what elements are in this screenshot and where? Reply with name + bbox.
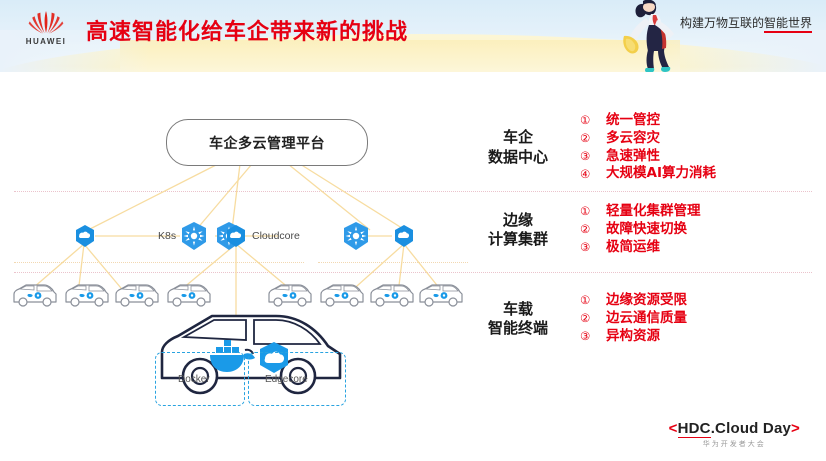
cloudcore-node-icon-2[interactable] <box>225 224 247 248</box>
cloudcore-node-icon-1[interactable] <box>74 224 96 248</box>
group-title-line1: 边缘 <box>470 211 566 230</box>
vehicle-icon[interactable] <box>10 280 60 310</box>
group-title-terminal: 车载 智能终端 <box>470 300 566 338</box>
huawei-logo: HUAWEI <box>16 8 76 48</box>
slide-canvas: HUAWEI 高速智能化给车企带来新的挑战 构建万物互联的智能世界 <box>0 0 826 461</box>
footer-cloud-day: .Cloud Day <box>711 420 791 437</box>
item-text: 边缘资源受限 <box>606 292 687 310</box>
challenge-list-datacenter: ① 统一管控 ② 多云容灾 ③ 急速弹性 ④ 大规模AI算力消耗 <box>580 112 716 183</box>
item-number: ① <box>580 204 606 219</box>
item-number: ① <box>580 293 606 308</box>
list-item: ③ 急速弹性 <box>580 148 716 166</box>
group-title-line1: 车企 <box>470 128 566 147</box>
item-text: 极简运维 <box>606 239 660 257</box>
tagline-prefix: 构建万物互联的 <box>680 16 764 30</box>
brand-tagline: 构建万物互联的智能世界 <box>680 14 812 31</box>
list-item: ④ 大规模AI算力消耗 <box>580 165 716 183</box>
edgecore-label: Edgecore <box>265 374 308 385</box>
item-number: ② <box>580 131 606 146</box>
event-logo: <HDC.Cloud Day> <box>669 420 800 437</box>
item-number: ③ <box>580 240 606 255</box>
group-title-line2: 计算集群 <box>470 230 566 249</box>
cloud-management-platform-box[interactable]: 车企多云管理平台 <box>166 119 368 166</box>
kubernetes-node-icon-3[interactable] <box>340 220 372 252</box>
item-number: ① <box>580 113 606 128</box>
challenge-group-terminal: 车载 智能终端 ① 边缘资源受限 ② 边云通信质量 ③ 异构资源 <box>470 292 687 345</box>
vehicle-icon[interactable] <box>62 280 112 310</box>
item-number: ② <box>580 222 606 237</box>
kubernetes-node-icon-1[interactable] <box>178 220 210 252</box>
footer-hdc: HDC <box>678 420 711 438</box>
vehicle-icon[interactable] <box>367 280 417 310</box>
challenge-group-datacenter: 车企 数据中心 ① 统一管控 ② 多云容灾 ③ 急速弹性 ④ 大规模AI算力消耗 <box>470 112 716 183</box>
list-item: ③ 极简运维 <box>580 239 701 257</box>
page-title: 高速智能化给车企带来新的挑战 <box>86 14 408 46</box>
item-text: 边云通信质量 <box>606 310 687 328</box>
group-title-edge: 边缘 计算集群 <box>470 211 566 249</box>
list-item: ② 多云容灾 <box>580 130 716 148</box>
group-title-datacenter: 车企 数据中心 <box>470 128 566 166</box>
slide-header: HUAWEI 高速智能化给车企带来新的挑战 构建万物互联的智能世界 <box>0 0 826 72</box>
challenge-list-edge: ① 轻量化集群管理 ② 故障快速切换 ③ 极简运维 <box>580 203 701 256</box>
group-title-line1: 车载 <box>470 300 566 319</box>
item-text: 异构资源 <box>606 328 660 346</box>
group-title-line2: 智能终端 <box>470 319 566 338</box>
hero-illustration <box>620 0 706 72</box>
challenge-list-terminal: ① 边缘资源受限 ② 边云通信质量 ③ 异构资源 <box>580 292 687 345</box>
item-text: 故障快速切换 <box>606 221 687 239</box>
item-number: ④ <box>580 167 606 182</box>
item-text: 多云容灾 <box>606 130 660 148</box>
footer-open-bracket: < <box>669 420 678 437</box>
docker-label: Docker <box>178 374 210 385</box>
challenge-group-edge: 边缘 计算集群 ① 轻量化集群管理 ② 故障快速切换 ③ 极简运维 <box>470 203 701 256</box>
item-text: 大规模AI算力消耗 <box>606 165 716 183</box>
list-item: ① 统一管控 <box>580 112 716 130</box>
huawei-flower-icon <box>16 8 76 36</box>
item-text: 轻量化集群管理 <box>606 203 701 221</box>
event-subtitle: 华为开发者大会 <box>669 439 800 449</box>
list-item: ② 边云通信质量 <box>580 310 687 328</box>
vehicle-icon[interactable] <box>416 280 466 310</box>
list-item: ① 轻量化集群管理 <box>580 203 701 221</box>
item-text: 急速弹性 <box>606 148 660 166</box>
item-number: ③ <box>580 149 606 164</box>
architecture-diagram: 车企多云管理平台 K8s <box>0 72 470 412</box>
item-text: 统一管控 <box>606 112 660 130</box>
k8s-label: K8s <box>158 230 176 242</box>
item-number: ② <box>580 311 606 326</box>
list-item: ① 边缘资源受限 <box>580 292 687 310</box>
huawei-wordmark: HUAWEI <box>16 37 76 46</box>
tagline-highlight: 智能世界 <box>764 16 812 33</box>
cloudcore-label: Cloudcore <box>252 230 300 242</box>
list-item: ② 故障快速切换 <box>580 221 701 239</box>
event-footer: <HDC.Cloud Day> 华为开发者大会 <box>669 420 800 449</box>
list-item: ③ 异构资源 <box>580 328 687 346</box>
group-title-line2: 数据中心 <box>470 148 566 167</box>
cloudcore-node-icon-3[interactable] <box>393 224 415 248</box>
item-number: ③ <box>580 329 606 344</box>
footer-close-bracket: > <box>791 420 800 437</box>
platform-label: 车企多云管理平台 <box>209 133 325 153</box>
